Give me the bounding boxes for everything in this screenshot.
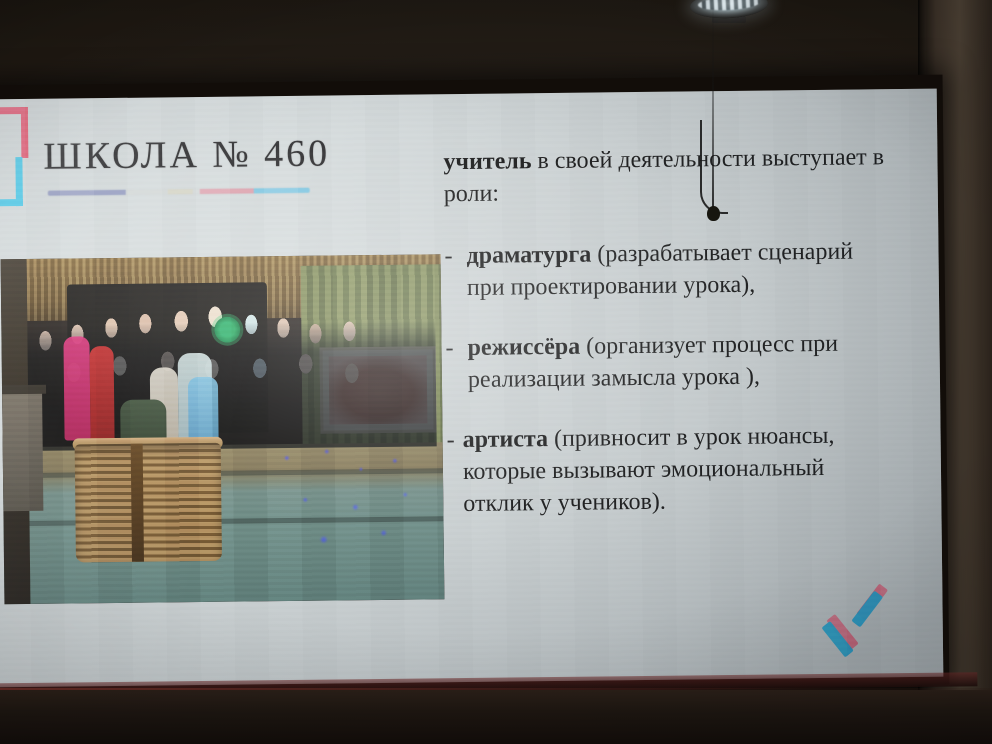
double-chevron-logo-icon <box>835 607 897 652</box>
bullet-text: драматурга (разрабатывает сценарий при п… <box>466 235 897 304</box>
list-item: - режиссёра (организует процесс при реал… <box>445 327 898 396</box>
photo-green-headdress <box>214 317 240 343</box>
bullet-dash: - <box>446 424 463 520</box>
screen-surface: ШКОЛА № 460 <box>0 89 943 688</box>
decorative-bracket-pink-icon <box>0 107 28 159</box>
slide-text-column: учитель в своей деятельности выступает в… <box>443 141 900 548</box>
hanging-cable-curve <box>700 120 728 214</box>
list-item: - драматурга (разрабатывает сценарий при… <box>444 235 897 304</box>
bullet-dash: - <box>444 240 467 304</box>
slide: ШКОЛА № 460 <box>0 89 943 688</box>
bullet-bold: артиста <box>462 426 548 453</box>
stage-group-photo <box>1 254 445 604</box>
bullet-bold: драматурга <box>466 242 591 269</box>
photo-woven-basket <box>75 443 222 563</box>
photo-podium-top <box>1 385 47 395</box>
cable-weight-icon <box>707 206 720 221</box>
page-title: ШКОЛА № 460 <box>43 132 330 179</box>
title-underline-rule <box>48 188 310 196</box>
photo-podium <box>2 389 43 511</box>
lead-paragraph: учитель в своей деятельности выступает в… <box>443 141 896 210</box>
photo-basket-band <box>131 444 144 562</box>
lead-bold: учитель <box>443 148 531 175</box>
bullet-text: режиссёра (организует процесс при реализ… <box>467 327 898 396</box>
photo-blue-lights <box>265 442 442 558</box>
list-item: - артиста (привносит в урок нюансы, кото… <box>446 419 899 520</box>
photo-costume-magenta <box>63 336 90 440</box>
bullet-text: артиста (привносит в урок нюансы, которы… <box>462 419 899 520</box>
chevron-cyan-icon <box>830 614 892 659</box>
photo-of-projected-slide: ШКОЛА № 460 <box>0 0 992 744</box>
projection-screen: ШКОЛА № 460 <box>0 75 949 696</box>
decorative-bracket-cyan-icon <box>0 157 23 207</box>
room-foreground <box>0 690 992 744</box>
bullet-bold: режиссёра <box>467 334 580 361</box>
bullet-dash: - <box>445 332 468 396</box>
